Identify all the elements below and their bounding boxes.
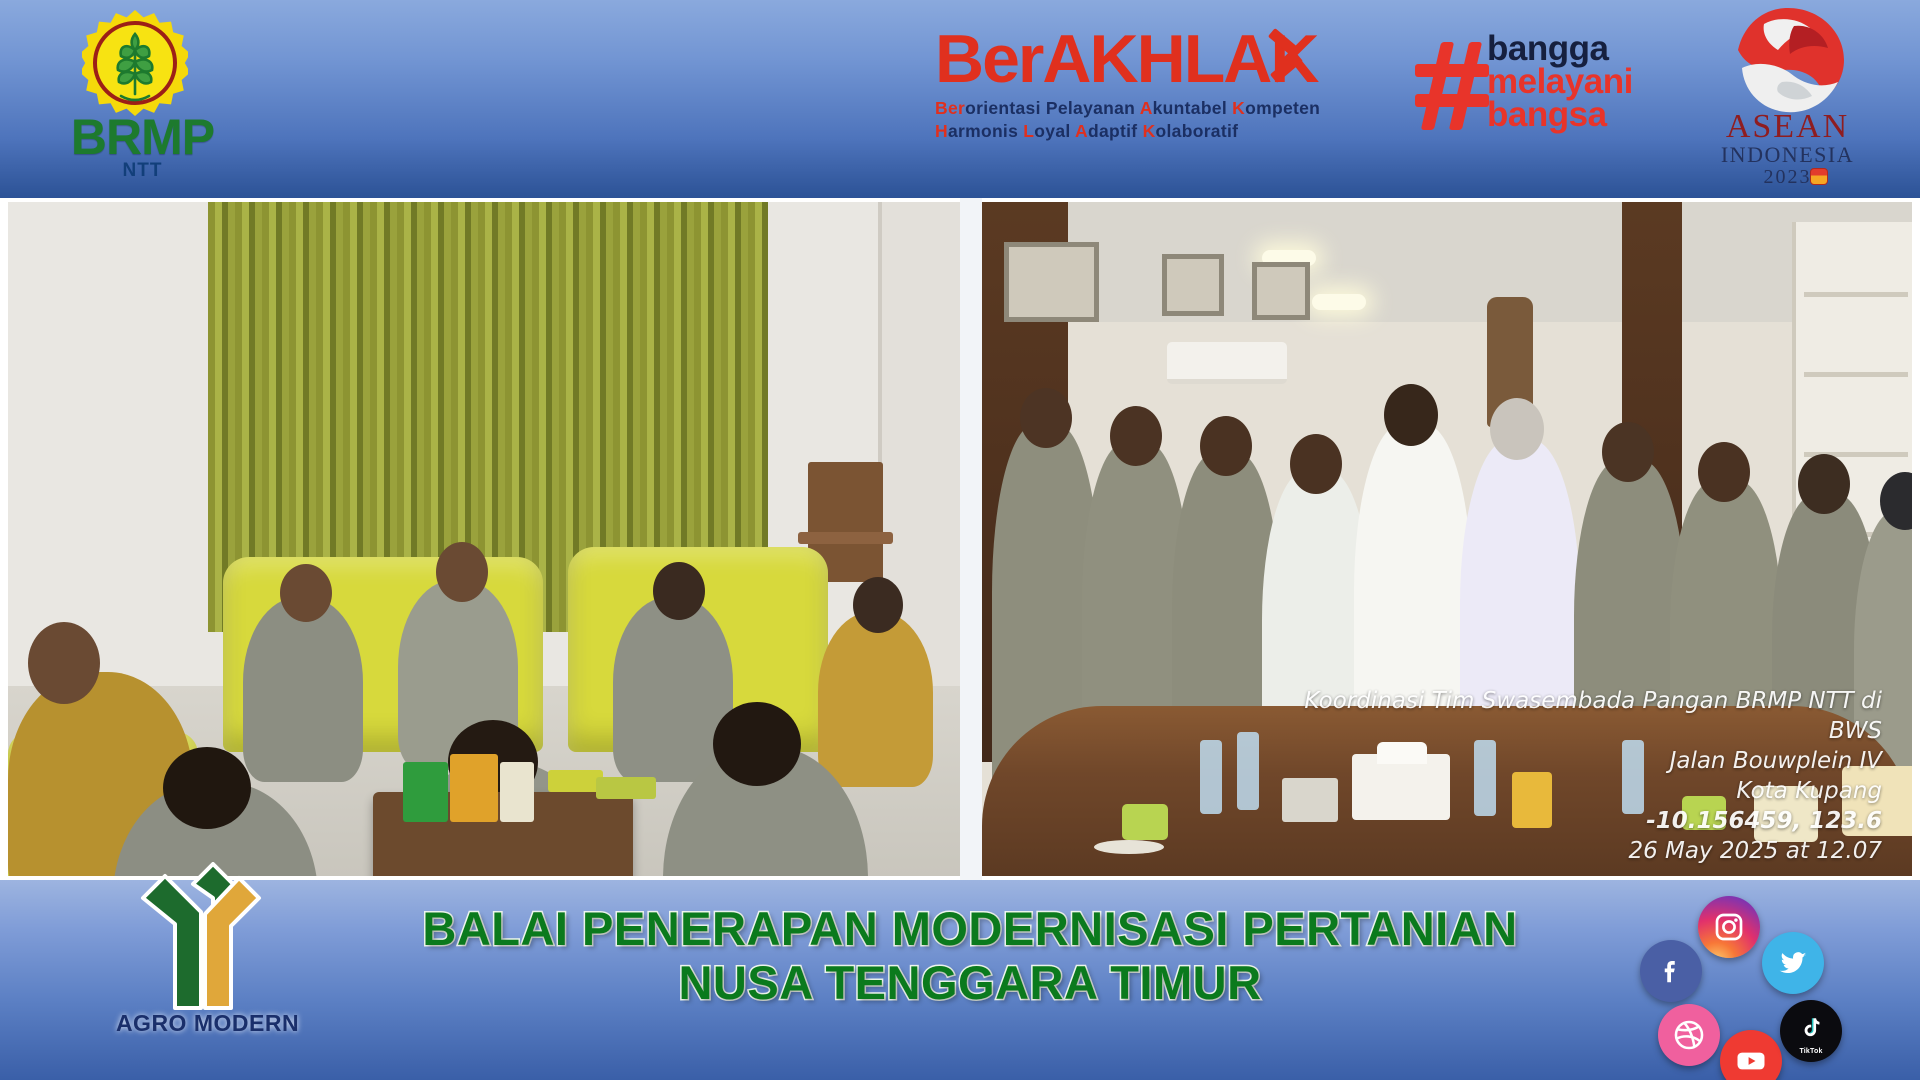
- footer-title-line1: BALAI PENERAPAN MODERNISASI PERTANIAN: [330, 902, 1610, 956]
- berakhlak-values-line1: Berorientasi Pelayanan Akuntabel Kompete…: [935, 98, 1355, 119]
- rice-plant-icon: [99, 24, 171, 102]
- berakhlak-values-line2: Harmonis Loyal Adaptif Kolaboratif: [935, 121, 1355, 142]
- watermark-line1: Koordinasi Tim Swasembada Pangan BRMP NT…: [1262, 686, 1882, 746]
- bangga-line1: bangga: [1487, 32, 1633, 65]
- watermark-coordinates: -10.156459, 123.6: [1262, 806, 1882, 836]
- hashtag-icon: [1415, 42, 1493, 130]
- agro-modern-logo: AGRO MODERN: [105, 862, 310, 1072]
- asean-line2: INDONESIA: [1700, 142, 1875, 168]
- asean-globe-icon: [1728, 6, 1848, 114]
- photo-watermark: Koordinasi Tim Swasembada Pangan BRMP NT…: [1262, 686, 1882, 866]
- social-links: TikTok: [1640, 892, 1900, 1072]
- header-bar: BRMP NTT BerAKHLAK Berorientasi Pelayana…: [0, 0, 1920, 198]
- page-title: BALAI PENERAPAN MODERNISASI PERTANIAN NU…: [330, 902, 1610, 1010]
- photo-divider: [960, 198, 982, 880]
- youtube-icon[interactable]: [1720, 1030, 1782, 1080]
- agro-modern-label: AGRO MODERN: [105, 1010, 310, 1037]
- berakhlak-logo: BerAKHLAK Berorientasi Pelayanan Akuntab…: [935, 22, 1355, 162]
- bangga-line3: bangsa: [1487, 98, 1633, 131]
- bangga-line2: melayani: [1487, 65, 1633, 98]
- tiktok-label: TikTok: [1780, 1048, 1842, 1055]
- photo-strip: Koordinasi Tim Swasembada Pangan BRMP NT…: [0, 198, 1920, 880]
- photo-meeting-lounge: [0, 198, 960, 880]
- indonesia-flag-badge-icon: [1810, 168, 1828, 185]
- brmp-logo: BRMP NTT: [30, 8, 255, 183]
- asean-line1: ASEAN: [1700, 108, 1875, 146]
- instagram-icon[interactable]: [1698, 896, 1760, 958]
- twitter-icon[interactable]: [1762, 932, 1824, 994]
- air-conditioner: [1167, 342, 1287, 384]
- dribbble-icon[interactable]: [1658, 1004, 1720, 1066]
- watermark-line3: Kota Kupang: [1262, 776, 1882, 806]
- bangga-melayani-bangsa-logo: bangga melayani bangsa: [1415, 30, 1650, 145]
- facebook-icon[interactable]: [1640, 940, 1702, 1002]
- photo-group-boardroom: Koordinasi Tim Swasembada Pangan BRMP NT…: [982, 198, 1920, 880]
- agro-modern-icon: [135, 862, 280, 1010]
- asean-indonesia-logo: ASEAN INDONESIA 2023: [1700, 6, 1875, 186]
- asean-line3: 2023: [1700, 166, 1875, 189]
- footer-bar: AGRO MODERN BALAI PENERAPAN MODERNISASI …: [0, 880, 1920, 1080]
- chevron-right-icon: [1271, 26, 1317, 74]
- brmp-name: BRMP: [30, 112, 255, 162]
- watermark-line2: Jalan Bouwplein IV: [1262, 746, 1882, 776]
- kementan-seal-icon: [82, 10, 188, 116]
- footer-title-line2: NUSA TENGGARA TIMUR: [330, 956, 1610, 1010]
- watermark-timestamp: 26 May 2025 at 12.07: [1262, 836, 1882, 866]
- brmp-region: NTT: [30, 160, 255, 182]
- poster-root: BRMP NTT BerAKHLAK Berorientasi Pelayana…: [0, 0, 1920, 1080]
- tiktok-icon[interactable]: TikTok: [1780, 1000, 1842, 1062]
